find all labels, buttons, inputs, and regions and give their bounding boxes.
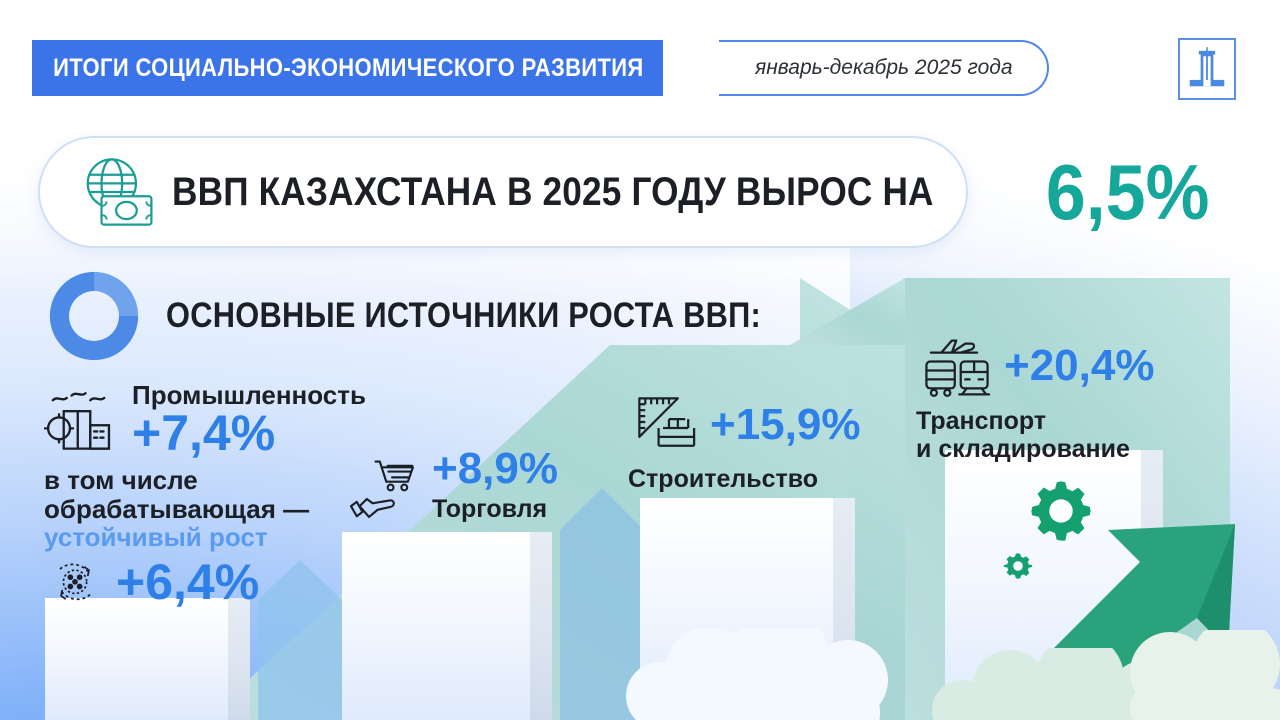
- section-title: ОСНОВНЫЕ ИСТОЧНИКИ РОСТА ВВП:: [166, 296, 761, 336]
- manufacturing-label-3: устойчивый рост: [44, 523, 309, 552]
- period-badge: январь-декабрь 2025 года: [719, 40, 1049, 96]
- stat-trade: +8,9% Торговля: [350, 448, 558, 523]
- gdp-banner: ВВП КАЗАХСТАНА В 2025 ГОДУ ВЫРОС НА 6,5%: [38, 136, 968, 248]
- cloud-icon: [620, 628, 950, 720]
- factory-icon: [44, 380, 124, 458]
- manufacturing-label-1: в том числе: [44, 466, 309, 495]
- bar-side: [530, 532, 552, 720]
- infographic-root: ИТОГИ СОЦИАЛЬНО-ЭКОНОМИЧЕСКОГО РАЗВИТИЯ …: [0, 0, 1280, 720]
- plane-bus-train-icon: [916, 330, 998, 402]
- bar-face: [342, 532, 552, 720]
- cloud-left-icon: [1110, 630, 1280, 720]
- transport-value: +20,4%: [1004, 345, 1154, 387]
- government-building-icon: [1178, 38, 1236, 100]
- gdp-label: ВВП КАЗАХСТАНА В 2025 ГОДУ ВЫРОС НА: [172, 170, 934, 215]
- section-header: ОСНОВНЫЕ ИСТОЧНИКИ РОСТА ВВП:: [44, 268, 842, 364]
- donut-chart-icon: [44, 268, 144, 364]
- page-title: ИТОГИ СОЦИАЛЬНО-ЭКОНОМИЧЕСКОГО РАЗВИТИЯ: [32, 40, 663, 96]
- molecule-cycle-icon: [44, 554, 106, 612]
- globe-money-icon: [74, 149, 160, 235]
- bar-trade: [342, 532, 552, 720]
- industry-value: +7,4%: [132, 410, 366, 458]
- bar-face: [45, 598, 250, 720]
- manufacturing-label-2: обрабатывающая —: [44, 495, 309, 524]
- construction-label: Строительство: [628, 466, 860, 494]
- shopping-cart-hand-icon: [350, 450, 424, 522]
- construction-value: +15,9%: [710, 404, 860, 446]
- header: ИТОГИ СОЦИАЛЬНО-ЭКОНОМИЧЕСКОГО РАЗВИТИЯ …: [32, 40, 1049, 96]
- stat-construction: +15,9% Строительство: [628, 388, 860, 494]
- trade-label: Торговля: [432, 496, 558, 524]
- transport-label-1: Транспорт: [916, 408, 1154, 436]
- stat-manufacturing: в том числе обрабатывающая — устойчивый …: [44, 466, 309, 612]
- stat-transport: +20,4% Транспорт и складирование: [916, 330, 1154, 463]
- stat-industry: Промышленность +7,4%: [44, 380, 366, 458]
- bar-industry: [45, 598, 250, 720]
- gdp-value: 6,5%: [1045, 153, 1225, 231]
- transport-label-2: и складирование: [916, 436, 1154, 464]
- manufacturing-value: +6,4%: [116, 559, 259, 607]
- bar-side: [228, 598, 250, 720]
- trade-value: +8,9%: [432, 448, 558, 490]
- ruler-bricks-icon: [628, 388, 704, 462]
